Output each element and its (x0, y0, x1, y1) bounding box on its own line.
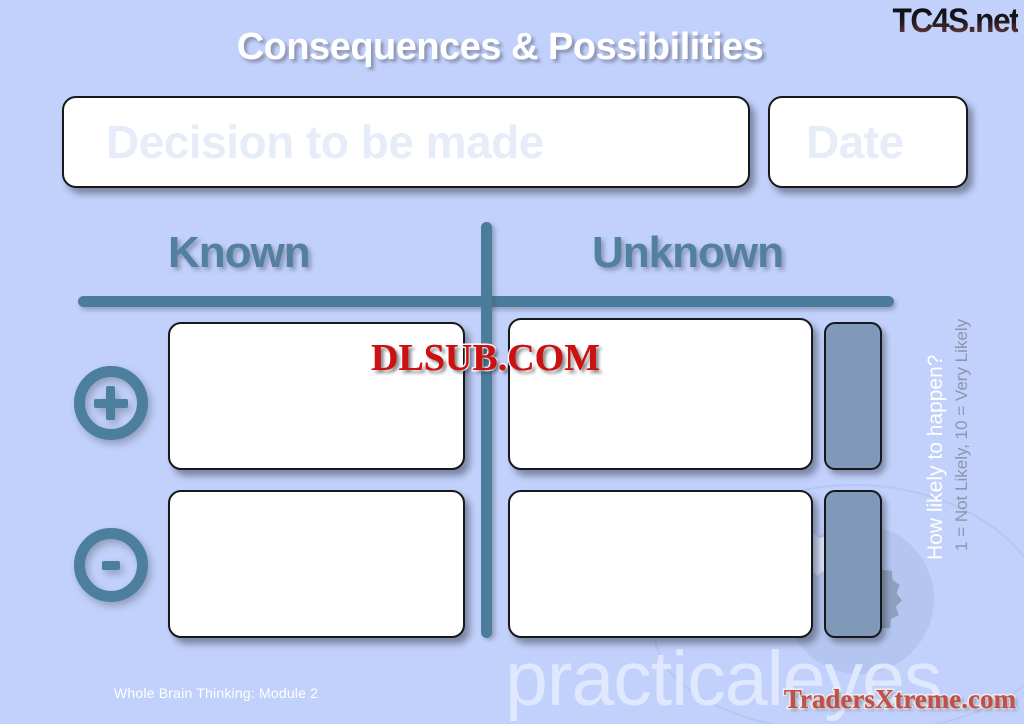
vertical-divider (481, 222, 492, 638)
plus-icon (74, 366, 148, 440)
likelihood-question: How likely to happen? (925, 355, 946, 560)
tradersxtreme-watermark: TradersXtreme.com (784, 684, 1016, 715)
date-input[interactable]: Date (768, 96, 968, 188)
cell-known-negative[interactable] (168, 490, 465, 638)
footer-note: Whole Brain Thinking: Module 2 (114, 685, 318, 701)
rating-cell-negative[interactable] (824, 490, 882, 638)
rating-cell-positive[interactable] (824, 322, 882, 470)
likelihood-scale: 1 = Not Likely, 10 = Very Likely (953, 319, 970, 551)
date-placeholder: Date (806, 115, 904, 169)
decision-input[interactable]: Decision to be made (62, 96, 750, 188)
decision-placeholder: Decision to be made (106, 115, 544, 169)
column-heading-known: Known (168, 228, 310, 278)
plus-bar-vertical (106, 386, 115, 420)
dlsub-watermark: DLSUB.COM (371, 336, 600, 380)
cell-unknown-negative[interactable] (508, 490, 813, 638)
minus-icon (74, 528, 148, 602)
column-heading-unknown: Unknown (592, 228, 783, 278)
page-title: Consequences & Possibilities (0, 26, 1000, 69)
worksheet-canvas: practicaleyes TC4S.net Consequences & Po… (0, 0, 1024, 724)
minus-bar-horizontal (102, 561, 120, 570)
